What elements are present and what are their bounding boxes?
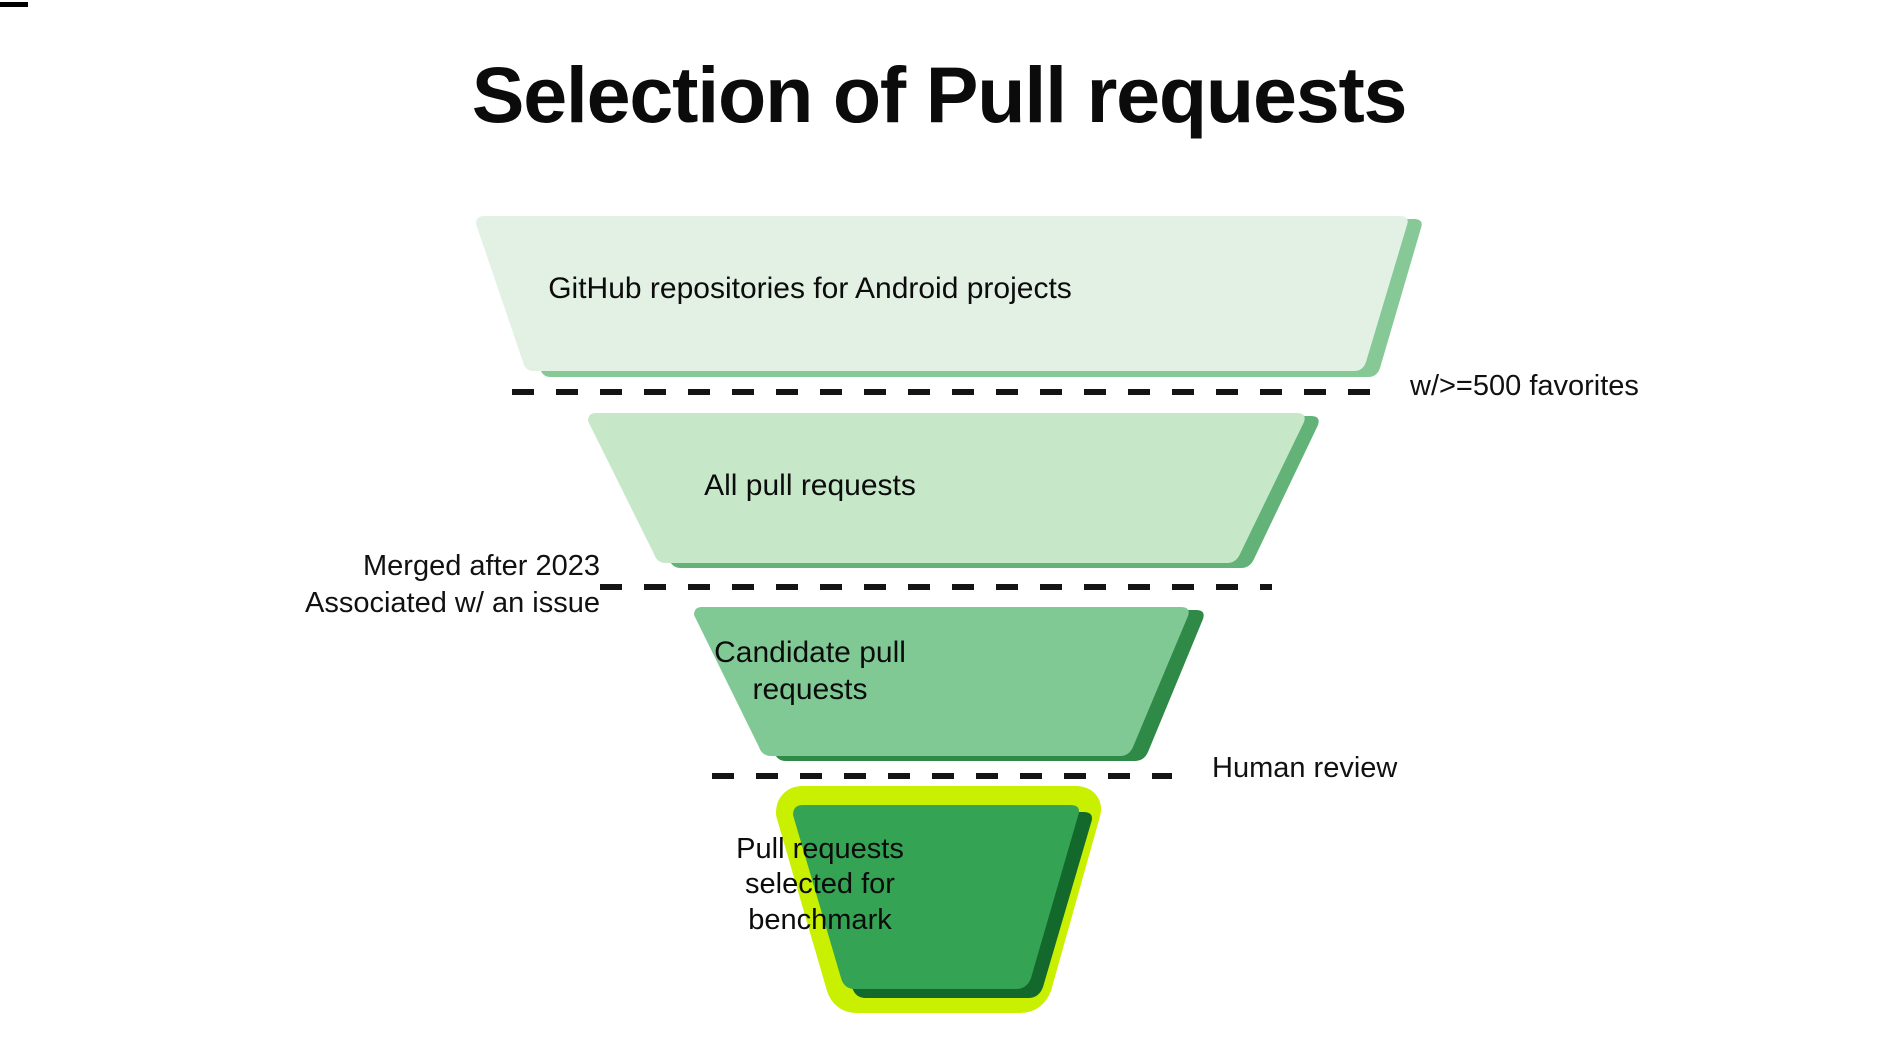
funnel-stage-1 bbox=[476, 216, 1422, 377]
funnel-stage-2 bbox=[588, 413, 1319, 568]
funnel-stage-1-face bbox=[476, 216, 1408, 371]
funnel-stage-4 bbox=[793, 803, 1092, 998]
funnel-chart bbox=[0, 0, 1878, 1058]
funnel-stage-3 bbox=[694, 607, 1204, 761]
funnel-stage-3-face bbox=[694, 607, 1189, 756]
funnel-stage-2-face bbox=[588, 413, 1305, 563]
